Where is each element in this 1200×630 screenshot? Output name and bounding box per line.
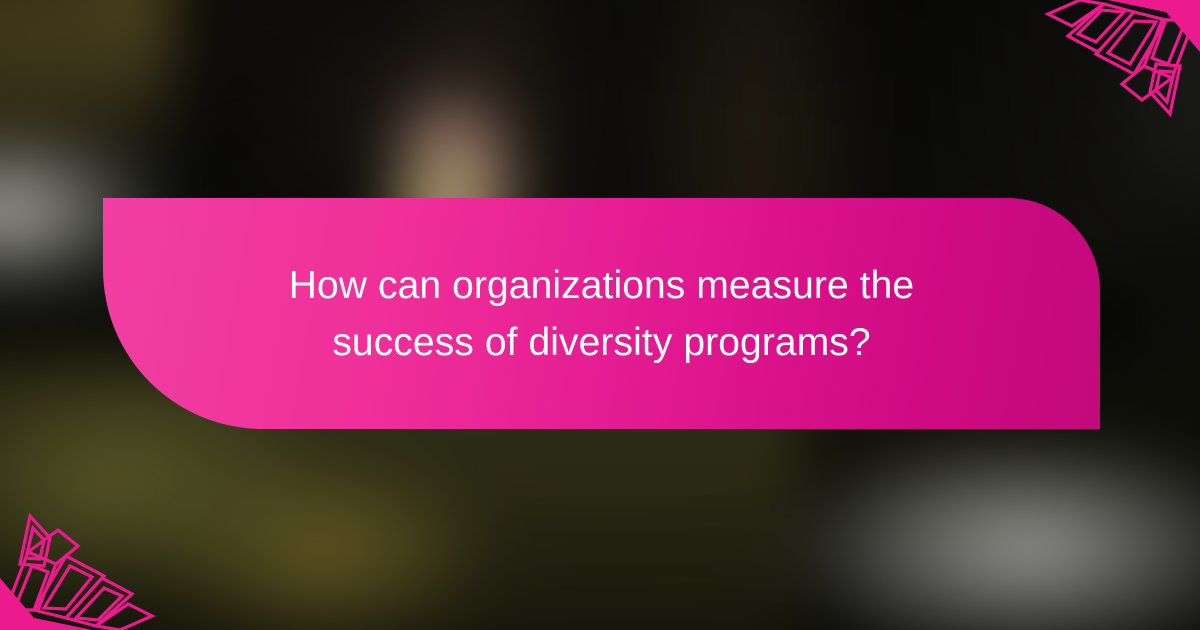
- headline-banner: How can organizations measure the succes…: [103, 198, 1100, 429]
- corner-ornament-top-right-icon: [995, 0, 1200, 170]
- corner-ornament-bottom-left-icon: [0, 460, 205, 630]
- quote-card: How can organizations measure the succes…: [0, 0, 1200, 630]
- headline-line-1: How can organizations measure the: [289, 264, 914, 307]
- headline-text: How can organizations measure the succes…: [265, 257, 938, 371]
- headline-line-2: success of diversity programs?: [332, 321, 870, 364]
